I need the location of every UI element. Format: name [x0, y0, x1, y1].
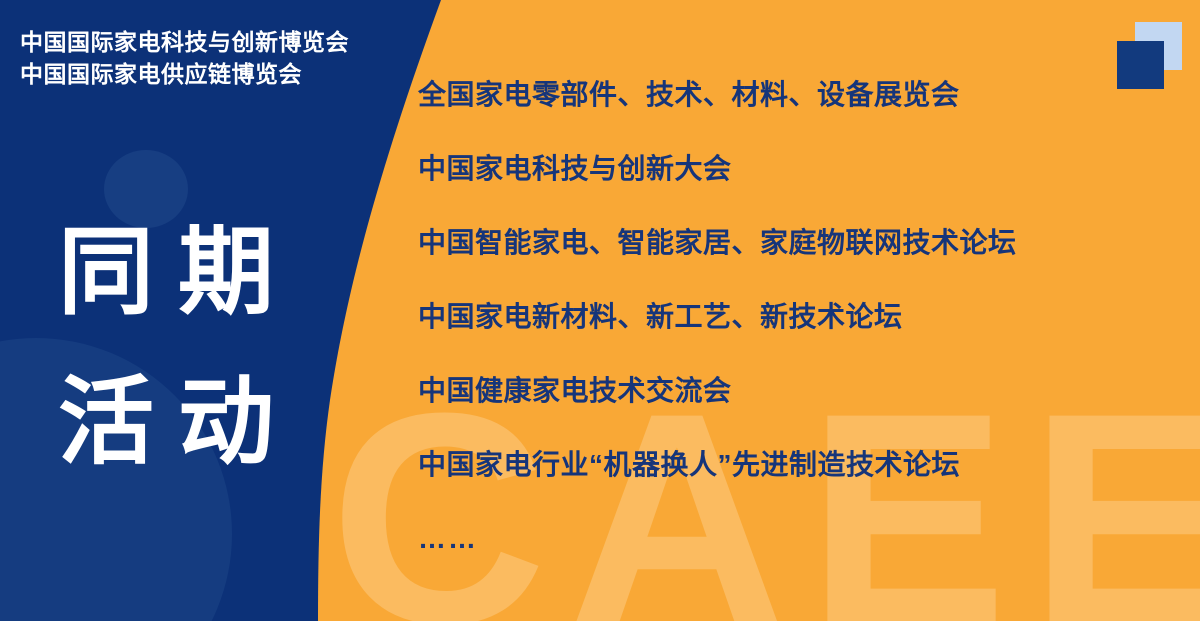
exhibition-header: 中国国际家电科技与创新博览会 中国国际家电供应链博览会 — [20, 26, 349, 90]
page-title-line-1: 同期 — [58, 198, 298, 348]
logo-dark-square-icon — [1117, 41, 1164, 89]
agenda-list: 全国家电零部件、技术、材料、设备展览会 中国家电科技与创新大会 中国智能家电、智… — [418, 78, 1178, 556]
exhibition-name-line-2: 中国国际家电供应链博览会 — [20, 58, 349, 90]
agenda-item: 中国健康家电技术交流会 — [418, 374, 1178, 408]
agenda-item: 中国家电行业“机器换人”先进制造技术论坛 — [418, 448, 1178, 482]
agenda-item: 中国智能家电、智能家居、家庭物联网技术论坛 — [418, 226, 1178, 260]
agenda-ellipsis: …… — [418, 522, 1178, 556]
exhibition-name-line-1: 中国国际家电科技与创新博览会 — [20, 26, 349, 58]
page-title: 同期 活动 — [58, 198, 298, 498]
agenda-item: 中国家电新材料、新工艺、新技术论坛 — [418, 300, 1178, 334]
agenda-item: 全国家电零部件、技术、材料、设备展览会 — [418, 78, 1178, 112]
page-title-line-2: 活动 — [58, 348, 298, 498]
agenda-item: 中国家电科技与创新大会 — [418, 152, 1178, 186]
logo-mark — [1113, 18, 1189, 94]
event-banner: CAEE 中国国际家电科技与创新博览会 中国国际家电供应链博览会 同期 活动 全… — [0, 0, 1200, 621]
